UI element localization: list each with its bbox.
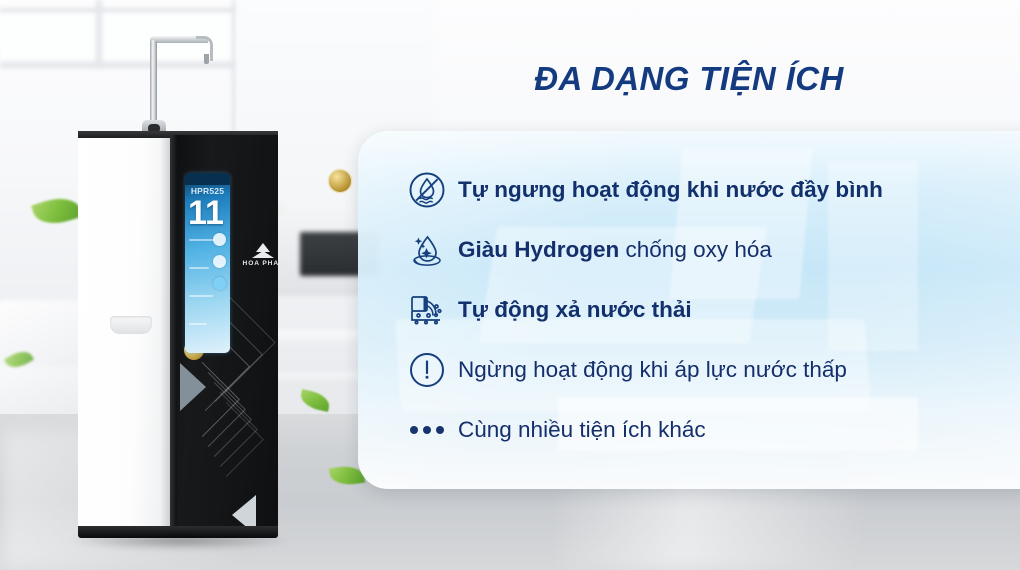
feature-list: Tự ngưng hoạt động khi nước đầy bình Già… (396, 160, 1020, 460)
cabinet-left-panel (78, 138, 170, 530)
feature-label: Tự động xả nước thải (458, 297, 692, 323)
cabinet-front-panel: HPR525 11 HOA PHAT (170, 135, 278, 533)
feature-label-bold-part: Giàu Hydrogen (458, 237, 619, 262)
spec-bullets (213, 233, 226, 299)
feature-item-hydrogen-rich: Giàu Hydrogen chống oxy hóa (396, 220, 1020, 280)
feature-label: Ngừng hoạt động khi áp lực nước thấp (458, 357, 847, 383)
hydrogen-water-drop-icon (396, 229, 458, 271)
product-shadow (70, 536, 290, 550)
product-image-water-purifier: HPR525 11 HOA PHAT (78, 28, 293, 528)
brand-logo-text: HOA PHAT (240, 260, 286, 267)
auto-drain-wastewater-icon (396, 289, 458, 331)
feature-label: Tự ngưng hoạt động khi nước đầy bình (458, 177, 883, 203)
certification-badge-icon (329, 170, 351, 192)
page-title: ĐA DẠNG TIỆN ÍCH (358, 60, 1020, 106)
feature-label: Giàu Hydrogen chống oxy hóa (458, 237, 772, 263)
no-water-overflow-icon (396, 169, 458, 211)
faucet-tip (204, 54, 209, 64)
product-spec-label: HPR525 11 (185, 173, 230, 353)
ellipsis-icon (396, 426, 458, 434)
feature-item-auto-stop-when-full: Tự ngưng hoạt động khi nước đầy bình (396, 160, 1020, 220)
chevron-accent (180, 363, 206, 411)
feature-item-low-pressure-stop: Ngừng hoạt động khi áp lực nước thấp (396, 340, 1020, 400)
spec-label-cap (185, 173, 230, 185)
cabinet-edge (170, 135, 177, 533)
feature-item-more-utilities: Cùng nhiều tiện ích khác (396, 400, 1020, 460)
feature-label: Cùng nhiều tiện ích khác (458, 417, 706, 443)
feature-item-auto-drain: Tự động xả nước thải (396, 280, 1020, 340)
product-stage-count: 11 (188, 197, 224, 229)
faucet-post (150, 40, 157, 124)
cabinet-handle (110, 316, 152, 334)
exclamation-circle-icon (396, 349, 458, 391)
feature-label-rest: chống oxy hóa (619, 237, 772, 262)
product-feature-banner: HPR525 11 HOA PHAT (0, 0, 1020, 570)
brand-logo: HOA PHAT (240, 243, 286, 267)
logo-triangle-icon (252, 251, 274, 258)
